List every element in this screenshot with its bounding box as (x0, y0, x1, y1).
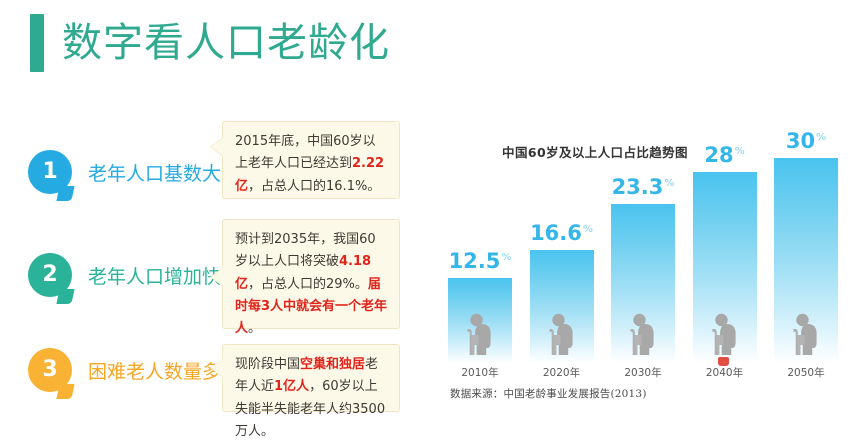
bar-value-label: 12.5% (448, 251, 512, 272)
bar-person-icon-wrap (465, 313, 495, 359)
point-badge-2: 2 (28, 253, 72, 297)
bar-person-icon-wrap (791, 313, 821, 359)
chart-bar-group: 30% 2050年 (774, 138, 838, 363)
callout-text-1-part2: ，占总人口的16.1%。 (248, 179, 380, 194)
chart-bar[interactable] (611, 204, 675, 363)
point-item-2: 2 老年人口增加快 (28, 253, 221, 297)
point-badge-3: 3 (28, 348, 72, 392)
chart-plot-area: 12.5% 2010年16.6% 2020年23.3% 2030年28% 204… (448, 138, 838, 363)
chart-source-note: 数据来源：中国老龄事业发展报告(2013) (450, 386, 647, 401)
point-label-2: 老年人口增加快 (88, 262, 221, 289)
bar-value-label: 16.6% (530, 223, 594, 244)
point-item-1: 1 老年人口基数大 (28, 150, 221, 194)
callout-box-1: 2015年底，中国60岁以上老年人口已经达到2.22亿，占总人口的16.1%。 (222, 121, 400, 199)
page-title: 数字看人口老龄化 (62, 23, 390, 63)
chart-bar[interactable] (693, 172, 757, 363)
callout-text-3-part1: 现阶段中国 (235, 357, 300, 372)
elderly-person-icon (547, 313, 577, 355)
chart-x-label: 2030年 (611, 365, 675, 380)
elderly-person-icon (628, 313, 658, 355)
bar-value-label: 23.3% (611, 177, 675, 198)
point-item-3: 3 困难老人数量多 (28, 348, 221, 392)
elderly-person-icon (710, 313, 740, 355)
point-label-3: 困难老人数量多 (88, 357, 221, 384)
elderly-person-icon (465, 313, 495, 355)
bar-value-label: 28% (693, 145, 757, 166)
callout-arrow-3 (211, 359, 223, 377)
chart-bar-group: 23.3% 2030年 (611, 138, 675, 363)
callout-highlight-3-a: 空巢和独居 (300, 357, 365, 372)
title-accent-bar (30, 14, 44, 72)
cursor-marker (718, 357, 729, 366)
point-badge-1: 1 (28, 150, 72, 194)
callout-box-3: 现阶段中国空巢和独居老年人近1亿人，60岁以上失能半失能老年人约3500万人。 (222, 344, 400, 412)
chart-x-label: 2020年 (530, 365, 594, 380)
callout-text-2-part3: 。 (248, 321, 261, 336)
page-header: 数字看人口老龄化 (30, 14, 390, 72)
chart-bar[interactable] (530, 250, 594, 363)
chart-bar-group: 16.6% 2020年 (530, 138, 594, 363)
bar-person-icon-wrap (547, 313, 577, 359)
chart-x-label: 2050年 (774, 365, 838, 380)
population-trend-chart: 中国60岁及以上人口占比趋势图 12.5% 2010年16.6% 2020年23… (430, 128, 845, 413)
chart-bar-group: 12.5% 2010年 (448, 138, 512, 363)
chart-bar[interactable] (448, 278, 512, 363)
elderly-person-icon (791, 313, 821, 355)
point-number-3: 3 (42, 359, 57, 381)
callout-arrow-1 (211, 138, 223, 156)
callout-highlight-3-b: 1亿人 (274, 379, 309, 394)
callout-arrow-2 (211, 268, 223, 286)
chart-x-label: 2010年 (448, 365, 512, 380)
point-number-2: 2 (42, 264, 57, 286)
callout-box-2: 预计到2035年，我国60岁以上人口将突破4.18亿，占总人口的29%。届时每3… (222, 219, 400, 329)
callout-text-2-part2: ，占总人口的29%。 (248, 277, 368, 292)
point-number-1: 1 (42, 161, 57, 183)
bar-person-icon-wrap (710, 313, 740, 359)
infographic-page: 数字看人口老龄化 1 老年人口基数大 2015年底，中国60岁以上老年人口已经达… (0, 0, 850, 423)
chart-x-label: 2040年 (693, 365, 757, 380)
bar-person-icon-wrap (628, 313, 658, 359)
chart-bar-group: 28% 2040年 (693, 138, 757, 363)
point-label-1: 老年人口基数大 (88, 159, 221, 186)
chart-bar[interactable] (774, 158, 838, 363)
bar-value-label: 30% (774, 131, 838, 152)
